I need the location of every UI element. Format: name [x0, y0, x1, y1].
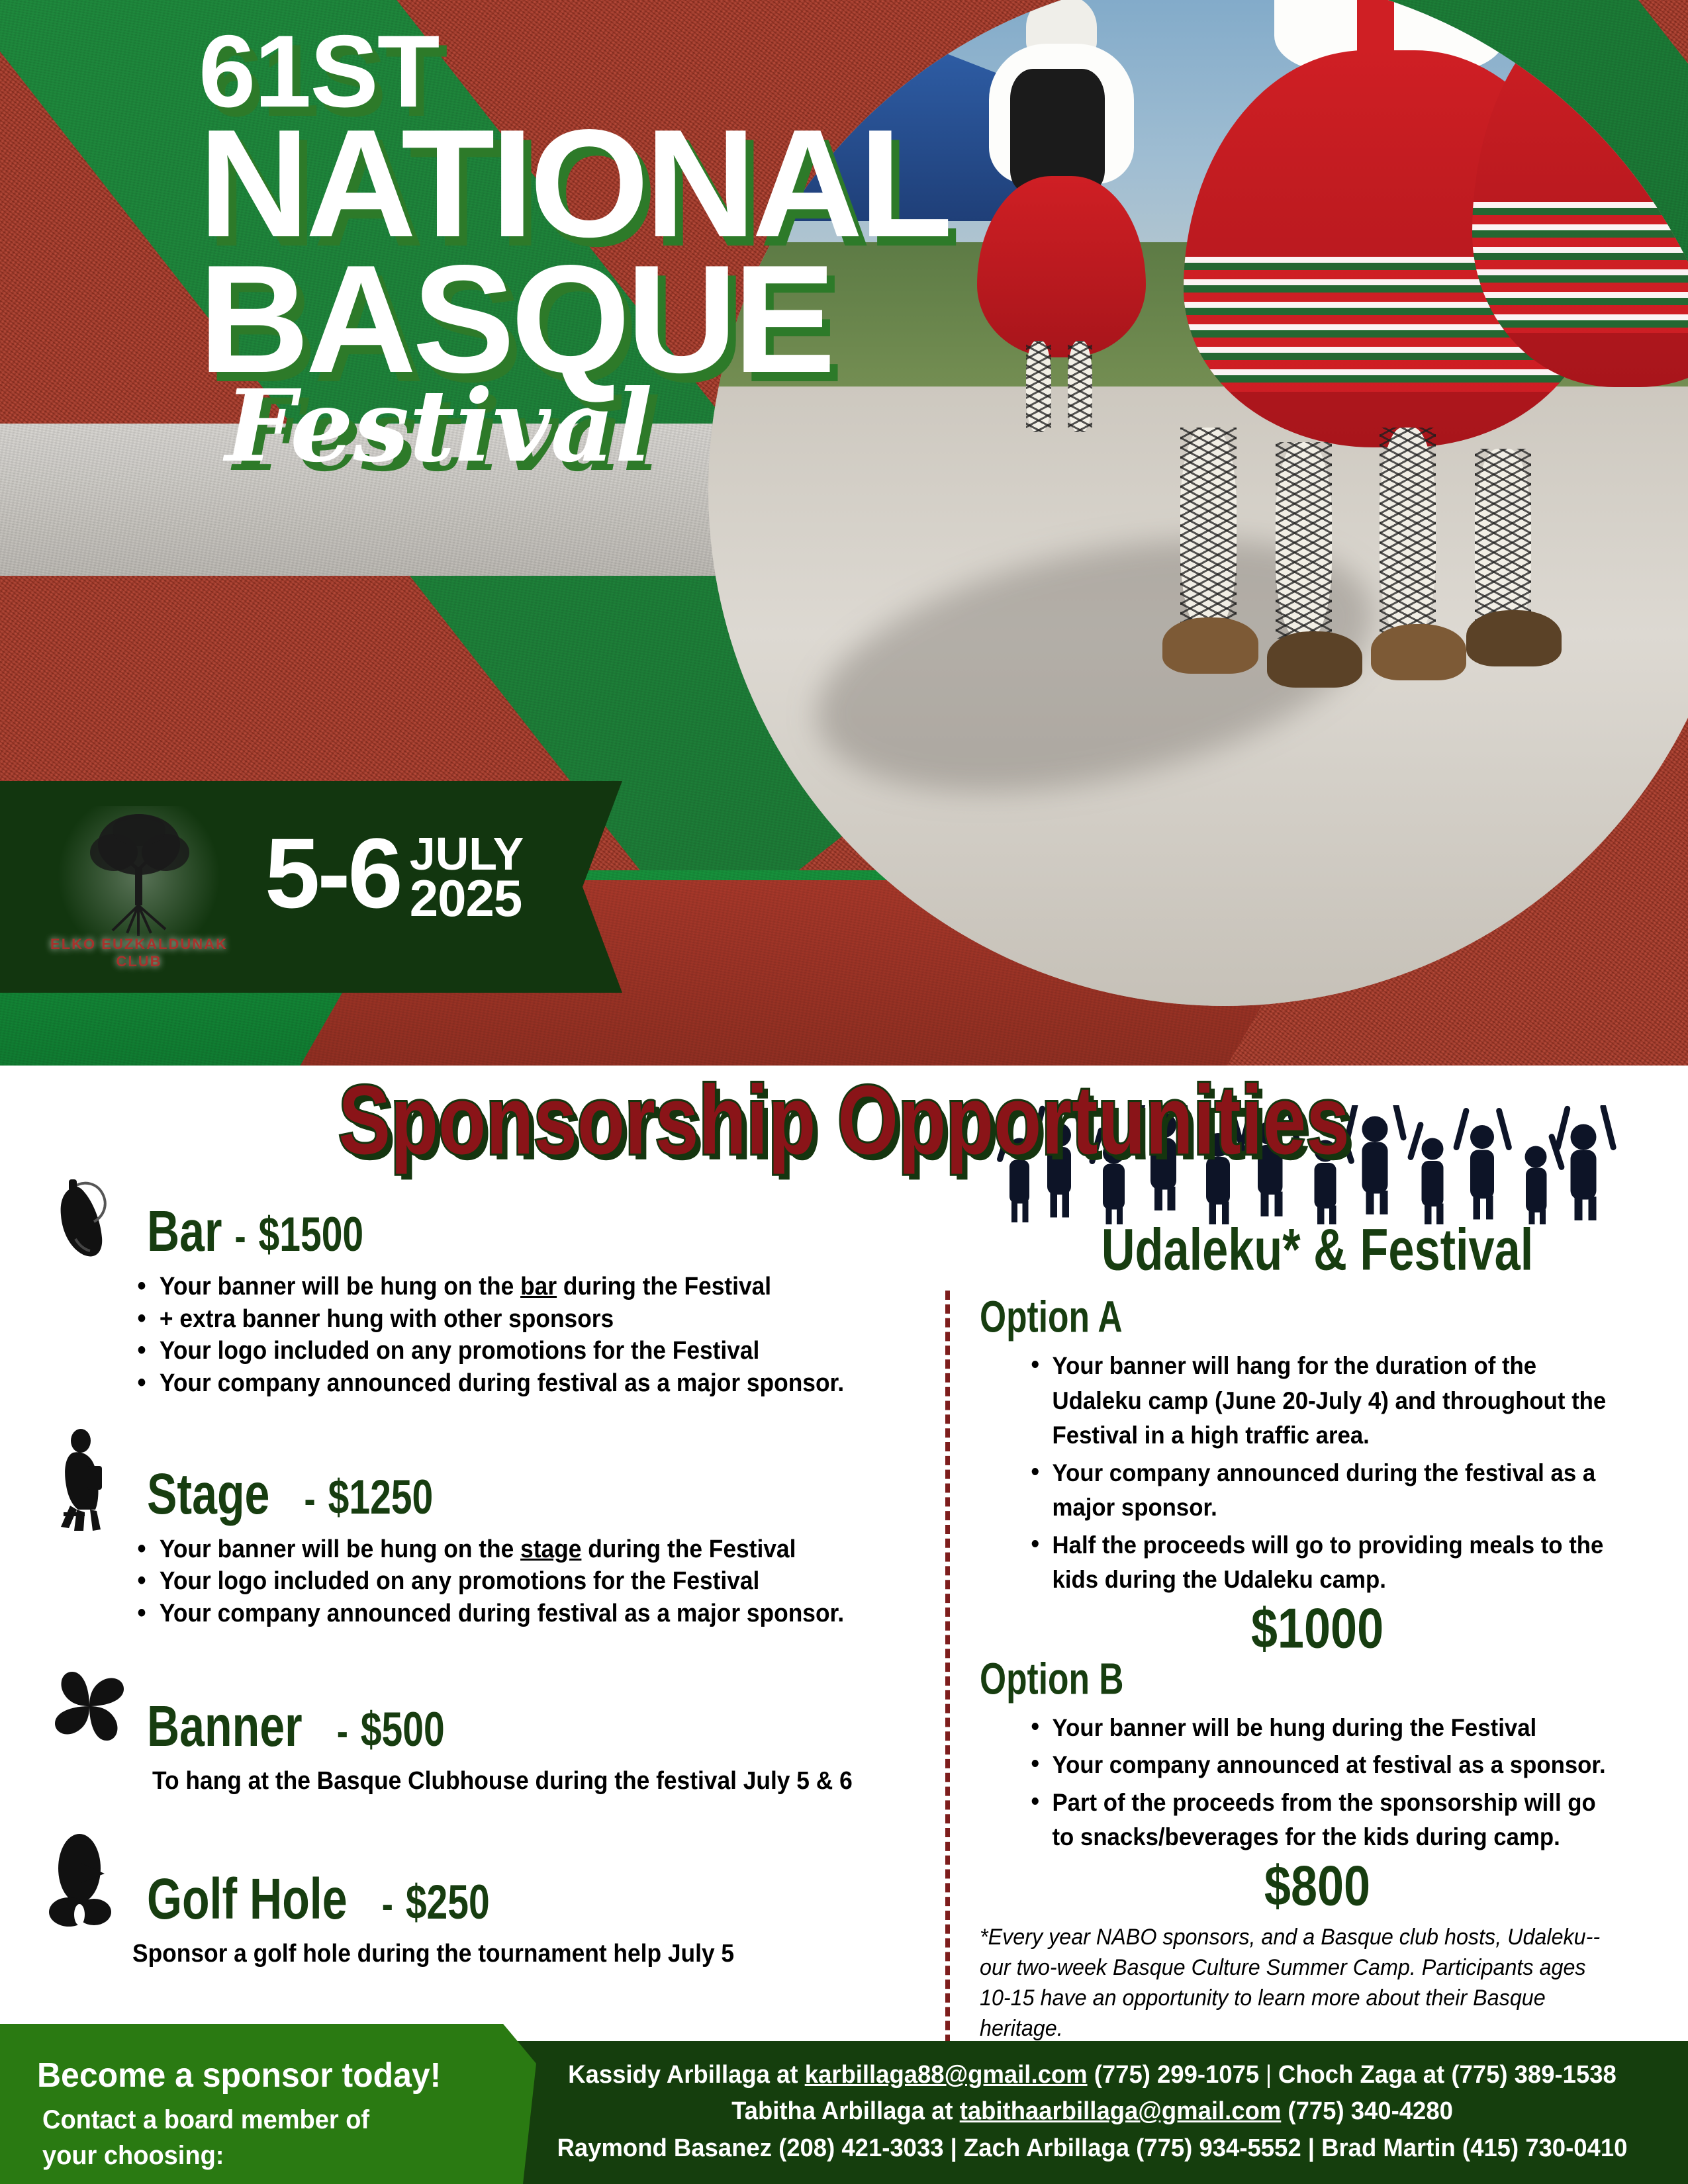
tier-banner-note: To hang at the Basque Clubhouse during t…: [152, 1767, 872, 1796]
column-divider: [945, 1291, 950, 2071]
tier-golf-name: Golf Hole: [147, 1866, 348, 1931]
footer-contacts: Kassidy Arbillaga at karbillaga88@gmail.…: [503, 2057, 1681, 2167]
list-item: Part of the proceeds from the sponsorshi…: [1026, 1786, 1617, 1855]
footer-cta-subtitle: Contact a board member of your choosing:: [42, 2102, 369, 2173]
list-item: + extra banner hung with other sponsors: [132, 1303, 871, 1336]
tier-stage-title: Stage - $1250: [147, 1460, 433, 1526]
tier-stage: Stage - $1250 Your banner will be hung o…: [46, 1428, 927, 1630]
option-a-price: $1000: [980, 1596, 1655, 1661]
festival-date: 5-6 JULY 2025: [265, 829, 524, 923]
contact-line-3: Raymond Basanez (208) 421-3033 | Zach Ar…: [527, 2130, 1658, 2167]
list-item: Your banner will be hung on the bar duri…: [132, 1271, 871, 1303]
dancer-right: [1472, 0, 1688, 407]
tier-bar-name: Bar: [147, 1199, 222, 1263]
footer-contact-bar: Become a sponsor today! Contact a board …: [0, 2024, 1688, 2184]
tier-stage-price: $1250: [328, 1471, 434, 1524]
contact-line-1: Kassidy Arbillaga at karbillaga88@gmail.…: [527, 2057, 1658, 2093]
sponsorship-header: Sponsorship Opportunities: [0, 1064, 1688, 1154]
sponsorship-title: Sponsorship Opportunities: [338, 1064, 1349, 1177]
list-item: Your banner will be hung during the Fest…: [1026, 1711, 1617, 1746]
tier-stage-name: Stage: [147, 1461, 269, 1525]
tier-bar: Bar - $1500 Your banner will be hung on …: [46, 1165, 927, 1400]
udaleku-section-title: Udaleku* & Festival: [997, 1216, 1638, 1283]
option-b-price: $800: [980, 1854, 1655, 1918]
tier-banner-name: Banner: [147, 1694, 303, 1758]
list-item: Half the proceeds will go to providing m…: [1026, 1528, 1617, 1598]
tier-bar-dash: -: [234, 1211, 246, 1260]
hero-line-basque: BASQUE: [199, 252, 1192, 387]
list-item: Your logo included on any promotions for…: [132, 1335, 871, 1367]
list-item: Your company announced during festival a…: [132, 1598, 871, 1630]
tier-golf-price: $250: [406, 1876, 490, 1929]
footer-cta-title: Become a sponsor today!: [37, 2056, 441, 2095]
left-column: Bar - $1500 Your banner will be hung on …: [46, 1165, 927, 1983]
option-b-benefits: Your banner will be hung during the Fest…: [1026, 1711, 1655, 1855]
tier-bar-benefits: Your banner will be hung on the bar duri…: [132, 1271, 927, 1400]
accordion-player-icon: [46, 1428, 132, 1527]
contact-line-2: Tabitha Arbillaga at tabithaarbillaga@gm…: [527, 2093, 1658, 2130]
tier-golf-title: Golf Hole - $250: [147, 1866, 490, 1932]
option-a-label: Option A: [980, 1291, 1601, 1342]
option-b-label: Option B: [980, 1653, 1601, 1704]
list-item: Your banner will hang for the duration o…: [1026, 1349, 1617, 1453]
contact-1-email[interactable]: karbillaga88@gmail.com: [805, 2061, 1088, 2089]
wineskin-icon: [46, 1165, 132, 1264]
contact-3-email[interactable]: tabithaarbillaga@gmail.com: [960, 2097, 1282, 2125]
club-name-label: ELKO EUZKALDUNAK CLUB: [46, 936, 232, 970]
contact-1-phone: (775) 299-1075: [1088, 2061, 1260, 2089]
list-item: Your banner will be hung on the stage du…: [132, 1533, 871, 1566]
option-a-benefits: Your banner will hang for the duration o…: [1026, 1349, 1655, 1598]
lauburu-icon: [46, 1660, 132, 1759]
hero-line-national: NATIONAL: [199, 116, 1192, 251]
contact-3-name: Tabitha Arbillaga at: [731, 2097, 960, 2125]
tier-banner-dash: -: [337, 1706, 348, 1755]
hero-banner: 61ST NATIONAL BASQUE Festival ELKO EUZKA…: [0, 0, 1688, 1066]
elko-euzkaldunak-club-logo: ELKO EUZKALDUNAK CLUB: [46, 806, 232, 972]
list-item: Your logo included on any promotions for…: [132, 1565, 871, 1598]
golf-flag-icon: [46, 1833, 132, 1932]
date-year: 2025: [410, 875, 524, 923]
tier-banner-price: $500: [361, 1703, 445, 1756]
tier-golf-hole: Golf Hole - $250 Sponsor a golf hole dur…: [46, 1833, 927, 1968]
oak-tree-icon: [66, 806, 212, 938]
tier-banner-title: Banner - $500: [147, 1693, 445, 1759]
list-item: Your company announced during the festiv…: [1026, 1456, 1617, 1525]
list-item: Your company announced during festival a…: [132, 1367, 871, 1400]
date-days: 5-6: [265, 829, 400, 918]
right-column: Udaleku* & Festival Option A Your banner…: [980, 1105, 1655, 2044]
contact-separator: |: [1259, 2061, 1278, 2089]
tier-bar-price: $1500: [259, 1208, 364, 1261]
list-item: Your company announced at festival as a …: [1026, 1748, 1617, 1783]
dancer-legs-cluster: [1162, 428, 1596, 778]
tier-stage-benefits: Your banner will be hung on the stage du…: [132, 1533, 927, 1630]
date-ribbon: ELKO EUZKALDUNAK CLUB 5-6 JULY 2025: [0, 781, 622, 993]
hero-title-block: 61ST NATIONAL BASQUE Festival: [199, 26, 1192, 476]
contact-3-phone: (775) 340-4280: [1281, 2097, 1453, 2125]
tier-banner: Banner - $500 To hang at the Basque Club…: [46, 1660, 927, 1796]
tier-stage-dash: -: [305, 1473, 316, 1522]
sponsorship-content: Bar - $1500 Your banner will be hung on …: [0, 1165, 1688, 1985]
contact-2: Choch Zaga at (775) 389-1538: [1278, 2061, 1617, 2089]
tier-golf-note: Sponsor a golf hole during the tournamen…: [132, 1940, 871, 1968]
tier-bar-title: Bar - $1500: [147, 1198, 363, 1264]
contact-1-name: Kassidy Arbillaga at: [568, 2061, 805, 2089]
tier-golf-dash: -: [382, 1879, 393, 1928]
